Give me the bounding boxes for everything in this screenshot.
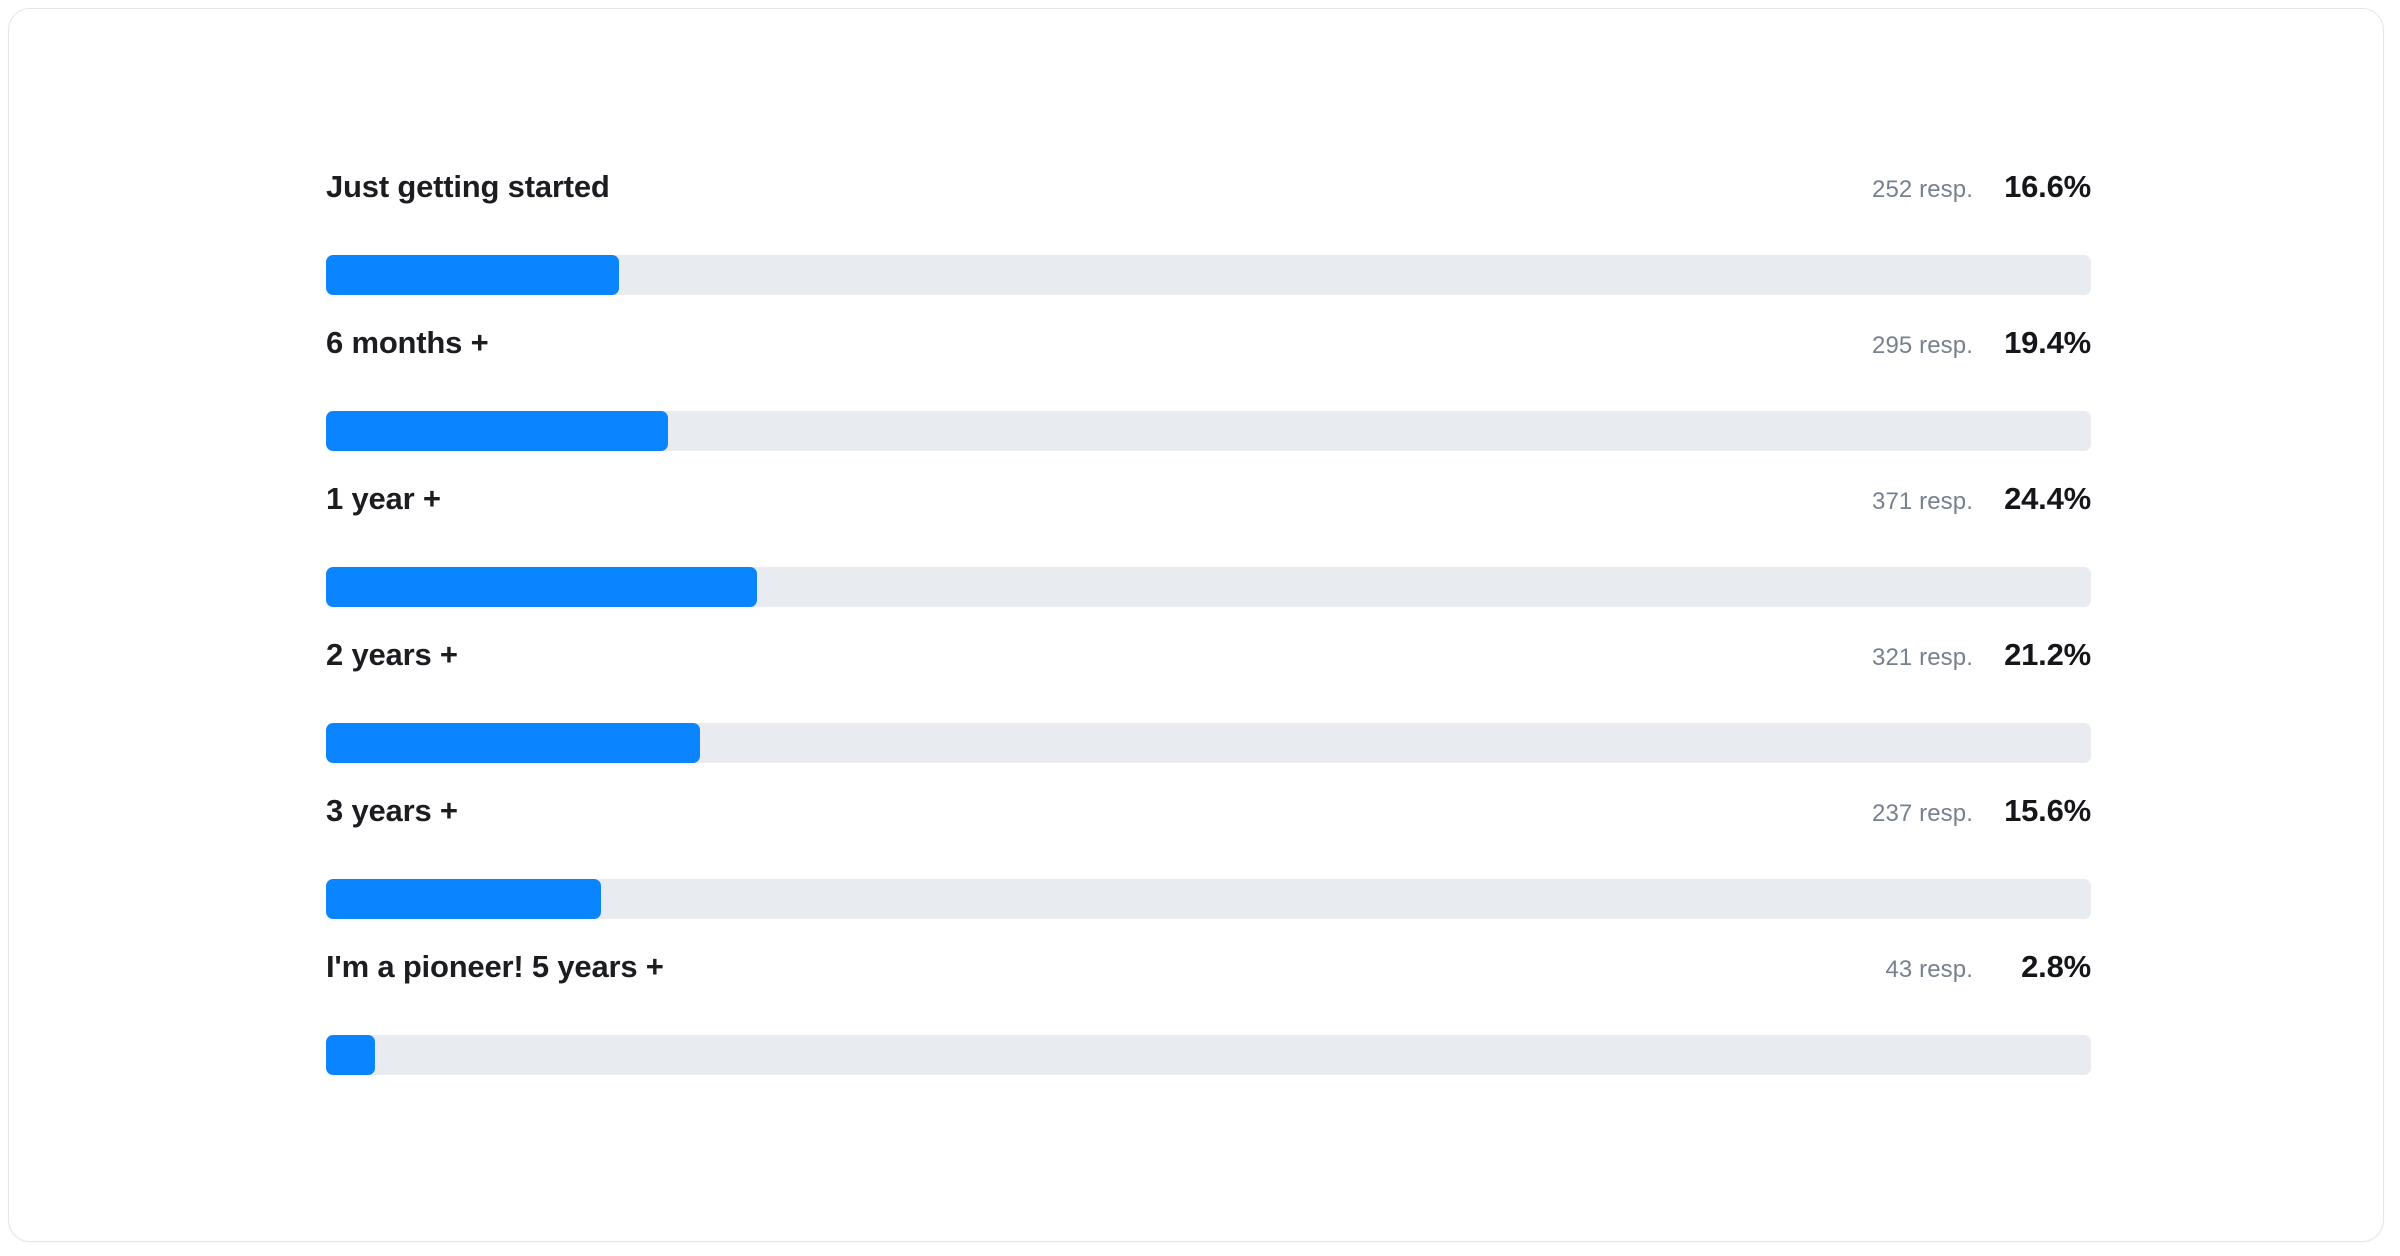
result-row-header: Just getting started 252 resp. 16.6% [318,169,2091,213]
result-bar-fill [326,255,619,295]
result-row-percent: 16.6% [1973,169,2091,205]
result-row-response-count: 43 resp. [1885,956,1973,984]
result-row-percent: 19.4% [1973,325,2091,361]
results-card: Just getting started 252 resp. 16.6% 6 m… [8,8,2384,1242]
result-row-response-count: 321 resp. [1872,644,1973,672]
result-row-label: 3 years + [326,793,458,829]
result-row-stats: 295 resp. 19.4% [1872,325,2091,361]
result-row: I'm a pioneer! 5 years + 43 resp. 2.8% [318,949,2091,1105]
result-bar-track [326,1035,2091,1075]
result-bar-track [326,411,2091,451]
result-row-response-count: 237 resp. [1872,800,1973,828]
result-bar-track [326,723,2091,763]
result-row-response-count: 371 resp. [1872,488,1973,516]
result-row-header: I'm a pioneer! 5 years + 43 resp. 2.8% [318,949,2091,993]
result-row-stats: 43 resp. 2.8% [1885,949,2091,985]
result-row-label: 2 years + [326,637,458,673]
result-row-stats: 237 resp. 15.6% [1872,793,2091,829]
result-row-label: I'm a pioneer! 5 years + [326,949,664,985]
result-row: 3 years + 237 resp. 15.6% [318,793,2091,949]
result-row-percent: 24.4% [1973,481,2091,517]
result-row-percent: 2.8% [1973,949,2091,985]
result-row-header: 6 months + 295 resp. 19.4% [318,325,2091,369]
result-row: 1 year + 371 resp. 24.4% [318,481,2091,637]
poll-results-chart: Just getting started 252 resp. 16.6% 6 m… [318,169,2091,1105]
result-bar-fill [326,723,700,763]
result-bar-track [326,879,2091,919]
result-bar-fill [326,879,601,919]
result-row-stats: 371 resp. 24.4% [1872,481,2091,517]
result-row-percent: 21.2% [1973,637,2091,673]
result-row-response-count: 252 resp. [1872,176,1973,204]
result-row: Just getting started 252 resp. 16.6% [318,169,2091,325]
result-row-label: 1 year + [326,481,441,517]
result-bar-fill [326,1035,375,1075]
result-row-response-count: 295 resp. [1872,332,1973,360]
result-row-percent: 15.6% [1973,793,2091,829]
result-bar-track [326,567,2091,607]
result-row-stats: 252 resp. 16.6% [1872,169,2091,205]
result-row-label: 6 months + [326,325,489,361]
result-row: 6 months + 295 resp. 19.4% [318,325,2091,481]
result-row-stats: 321 resp. 21.2% [1872,637,2091,673]
result-row: 2 years + 321 resp. 21.2% [318,637,2091,793]
result-row-header: 1 year + 371 resp. 24.4% [318,481,2091,525]
result-bar-track [326,255,2091,295]
result-row-header: 3 years + 237 resp. 15.6% [318,793,2091,837]
result-bar-fill [326,567,757,607]
result-row-header: 2 years + 321 resp. 21.2% [318,637,2091,681]
result-bar-fill [326,411,668,451]
result-row-label: Just getting started [326,169,610,205]
